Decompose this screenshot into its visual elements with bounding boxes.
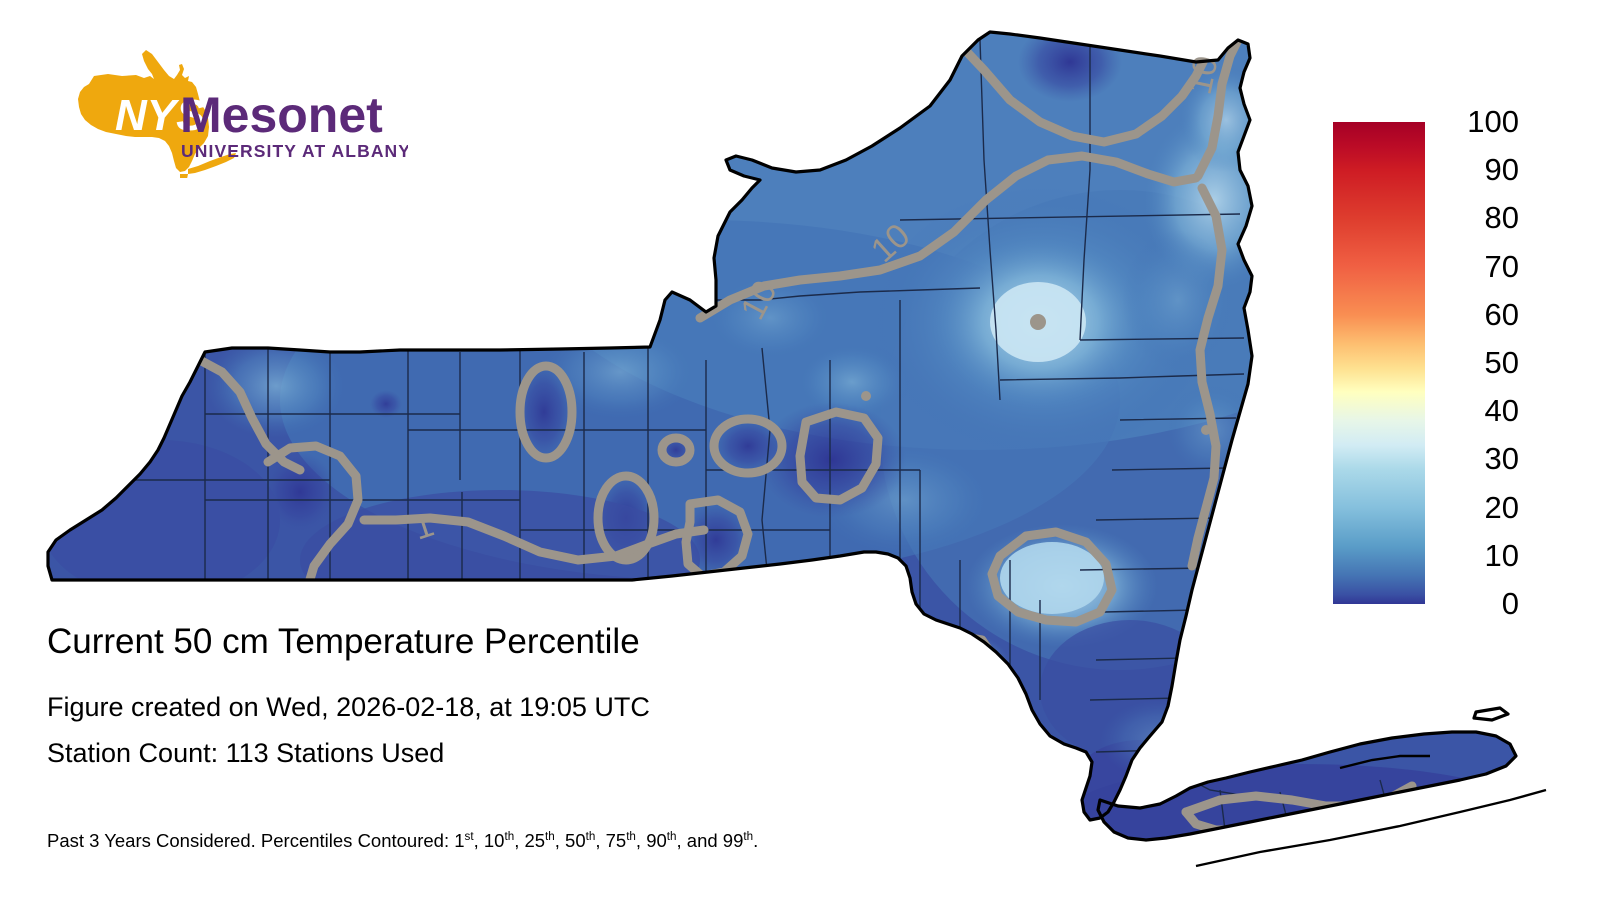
colorbar-tick-0: 0 [1433, 588, 1519, 619]
contour-dot-adirondack [1030, 314, 1046, 330]
percentile-colorbar: 1009080706050403020100 [1333, 122, 1563, 604]
colorbar-tick-labels: 1009080706050403020100 [1433, 92, 1553, 632]
colorbar-tick-60: 60 [1433, 299, 1519, 330]
contour-dot-saratoga [1201, 425, 1211, 435]
created-timestamp: Figure created on Wed, 2026-02-18, at 19… [47, 684, 1027, 730]
colorbar-tick-90: 90 [1433, 154, 1519, 185]
contour-dot-oneida [861, 391, 871, 401]
state-outline-block-island-sliver [1474, 708, 1508, 720]
caption-block: Current 50 cm Temperature Percentile Fig… [47, 620, 1027, 776]
colorbar-tick-30: 30 [1433, 443, 1519, 474]
footnote-percentile-90: 90th [646, 830, 676, 851]
colorbar-tick-80: 80 [1433, 202, 1519, 233]
fill-westchester-light [1100, 700, 1220, 780]
footnote-percentile-25: 25th [524, 830, 554, 851]
colorbar-tick-70: 70 [1433, 251, 1519, 282]
footnote: Past 3 Years Considered. Percentiles Con… [47, 830, 758, 852]
footnote-percentile-75: 75th [606, 830, 636, 851]
colorbar-tick-40: 40 [1433, 395, 1519, 426]
colorbar-tick-20: 20 [1433, 492, 1519, 523]
fill-catskill-core [1000, 542, 1104, 614]
footnote-percentile-50: 50th [565, 830, 595, 851]
footnote-percentile-10: 10th [484, 830, 514, 851]
colorbar-tick-100: 100 [1433, 106, 1519, 137]
fill-southwest-dark [40, 440, 280, 600]
colorbar-tick-50: 50 [1433, 347, 1519, 378]
station-count: Station Count: 113 Stations Used [47, 730, 1027, 776]
footnote-percentile-1: 1st [454, 830, 473, 851]
colorbar-tick-10: 10 [1433, 540, 1519, 571]
colorbar-gradient-bar [1333, 122, 1425, 604]
page-title: Current 50 cm Temperature Percentile [47, 620, 1027, 664]
fill-north-dark [1018, 22, 1122, 102]
footnote-percentile-99: 99th [723, 830, 753, 851]
